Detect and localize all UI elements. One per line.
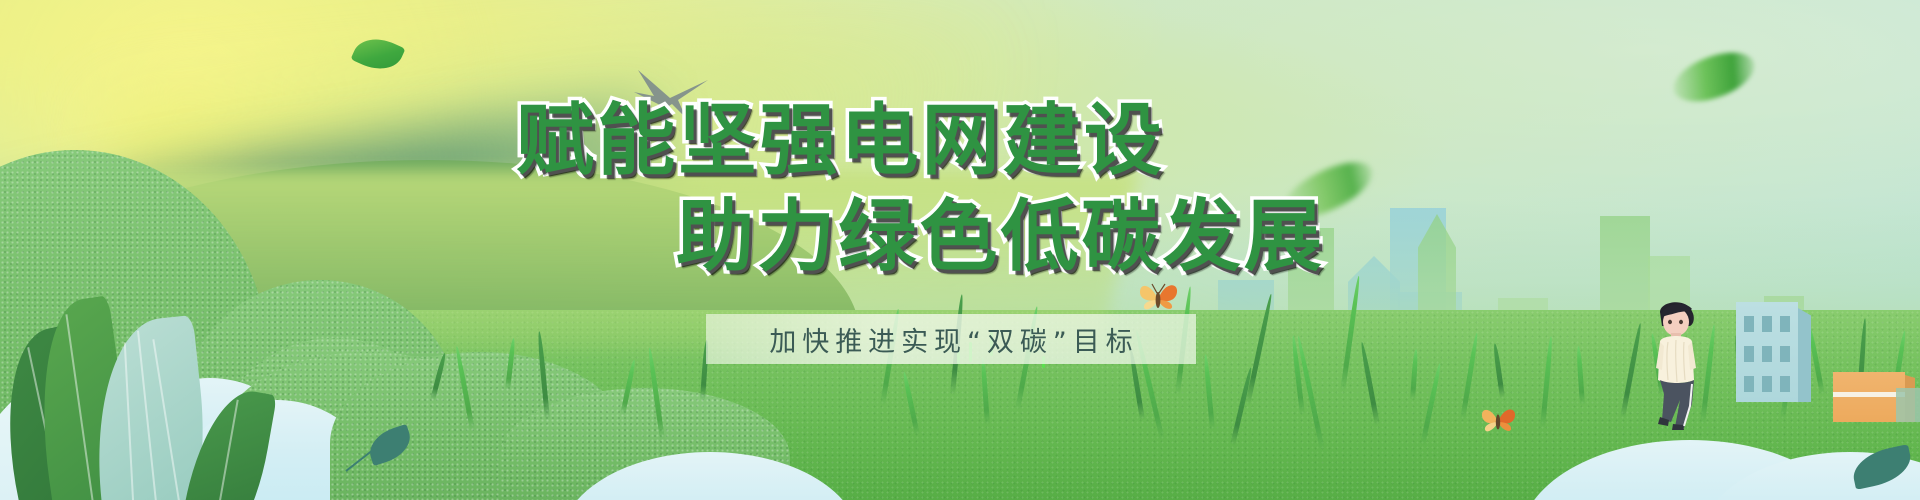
- title-line-2: 助力绿色低碳发展: [676, 174, 1325, 286]
- grey-shed: [1896, 388, 1920, 422]
- eco-power-banner: 赋能坚强电网建设 助力绿色低碳发展 加快推进实现“双碳”目标: [0, 0, 1920, 500]
- office-building-icon: [1736, 302, 1798, 402]
- subtitle-banner: 加快推进实现“双碳”目标: [706, 314, 1196, 364]
- stem-leaf: [342, 418, 412, 488]
- stem-leaf-right: [1840, 430, 1920, 490]
- subtitle-text: 加快推进实现“双碳”目标: [763, 320, 1138, 359]
- walking-person-icon: [1640, 296, 1712, 432]
- butterfly-lower-icon: [1478, 402, 1518, 440]
- orange-crate-icon: [1833, 372, 1905, 422]
